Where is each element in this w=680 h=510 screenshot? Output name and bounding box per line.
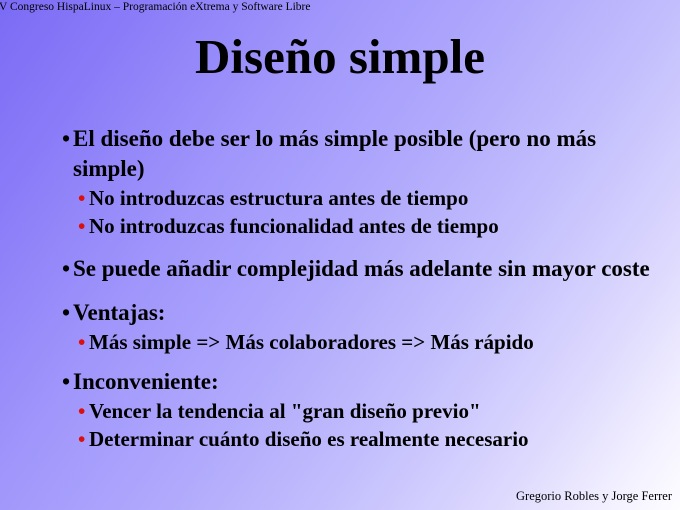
bullet-level1-text: Se puede añadir complejidad más adelante… [73,254,660,284]
bullet-level2: • No introduzcas funcionalidad antes de … [0,212,680,240]
bullet-group-inconveniente: • Inconveniente: • Vencer la tendencia a… [0,367,680,453]
bullet-level2: • No introduzcas estructura antes de tie… [0,184,680,212]
bullet-level2-text: Determinar cuánto diseño es realmente ne… [89,425,666,453]
presentation-slide: V Congreso HispaLinux – Programación eXt… [0,0,680,510]
bullet-marker-icon: • [62,124,70,154]
spacer [0,240,680,254]
slide-body: • El diseño debe ser lo más simple posib… [0,124,680,453]
slide-header: V Congreso HispaLinux – Programación eXt… [0,1,679,14]
bullet-level1: • Ventajas: [0,298,680,328]
bullet-level2: • Determinar cuánto diseño es realmente … [0,425,680,453]
spacer [0,356,680,367]
page-title: Diseño simple [0,30,680,84]
bullet-level1-text: El diseño debe ser lo más simple posible… [73,124,660,184]
bullet-marker-icon: • [62,254,70,284]
subbullet-marker-icon: • [78,328,85,356]
bullet-level1: • Inconveniente: [0,367,680,397]
bullet-level1-text: Inconveniente: [73,367,660,397]
bullet-level2-text: No introduzcas funcionalidad antes de ti… [89,212,666,240]
bullet-marker-icon: • [62,298,70,328]
spacer [0,284,680,298]
subbullet-marker-icon: • [78,397,85,425]
subbullet-marker-icon: • [78,212,85,240]
bullet-marker-icon: • [62,367,70,397]
bullet-level2-text: Vencer la tendencia al "gran diseño prev… [89,397,666,425]
bullet-level1-text: Ventajas: [73,298,660,328]
bullet-level2-text: Más simple => Más colaboradores => Más r… [89,328,666,356]
bullet-level1: • Se puede añadir complejidad más adelan… [0,254,680,284]
subbullet-marker-icon: • [78,184,85,212]
bullet-level2: • Más simple => Más colaboradores => Más… [0,328,680,356]
bullet-level1: • El diseño debe ser lo más simple posib… [0,124,680,184]
subbullet-marker-icon: • [78,425,85,453]
bullet-level2-text: No introduzcas estructura antes de tiemp… [89,184,666,212]
bullet-group-ventajas: • Ventajas: • Más simple => Más colabora… [0,298,680,356]
bullet-group-complejidad: • Se puede añadir complejidad más adelan… [0,254,680,284]
bullet-level2: • Vencer la tendencia al "gran diseño pr… [0,397,680,425]
slide-footer-authors: Gregorio Robles y Jorge Ferrer [516,489,672,504]
bullet-group-diseno-simple: • El diseño debe ser lo más simple posib… [0,124,680,240]
